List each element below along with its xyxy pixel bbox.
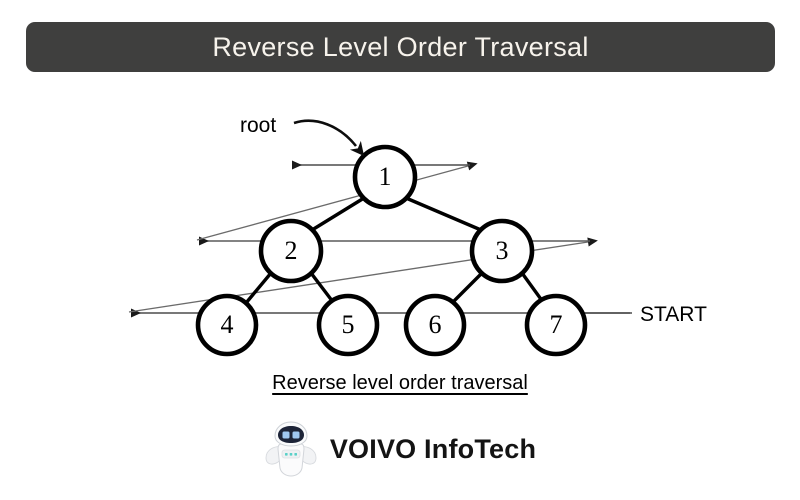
tree-node-4[interactable]: 4 (198, 296, 256, 354)
title-banner: Reverse Level Order Traversal (26, 22, 775, 72)
edge-1-3 (406, 198, 481, 230)
traversal-connector-level2-to-level1 (197, 166, 468, 240)
brand-logo: VOIVO InfoTech (0, 418, 800, 480)
edge-2-5 (311, 273, 333, 302)
root-annotation: root (240, 114, 356, 146)
robot-mascot-icon (264, 420, 318, 478)
tree-node-6[interactable]: 6 (406, 296, 464, 354)
start-label: START (640, 303, 707, 326)
root-label: root (240, 114, 276, 137)
node-label-1: 1 (379, 162, 392, 191)
edge-3-6 (452, 273, 482, 303)
diagram-caption: Reverse level order traversal (0, 372, 800, 395)
node-label-7: 7 (550, 310, 563, 339)
brand-name: VOIVO InfoTech (330, 434, 536, 465)
tree-node-1[interactable]: 1 (355, 147, 415, 207)
diagram-caption-text: Reverse level order traversal (272, 372, 528, 394)
page-title: Reverse Level Order Traversal (212, 34, 588, 61)
binary-tree-diagram: 1 2 3 4 5 6 7 (0, 90, 800, 410)
root-pointer-arrow (294, 121, 356, 146)
page-root: Reverse Level Order Traversal (0, 0, 800, 500)
node-label-4: 4 (221, 310, 234, 339)
tree-nodes: 1 2 3 4 5 6 7 (198, 147, 585, 354)
tree-node-5[interactable]: 5 (319, 296, 377, 354)
node-label-5: 5 (342, 310, 355, 339)
edge-3-7 (522, 273, 543, 302)
tree-node-3[interactable]: 3 (472, 221, 532, 281)
node-label-3: 3 (496, 236, 509, 265)
tree-node-7[interactable]: 7 (527, 296, 585, 354)
edge-1-2 (312, 198, 364, 230)
node-label-6: 6 (429, 310, 442, 339)
node-label-2: 2 (285, 236, 298, 265)
edge-2-4 (246, 273, 271, 303)
tree-node-2[interactable]: 2 (261, 221, 321, 281)
